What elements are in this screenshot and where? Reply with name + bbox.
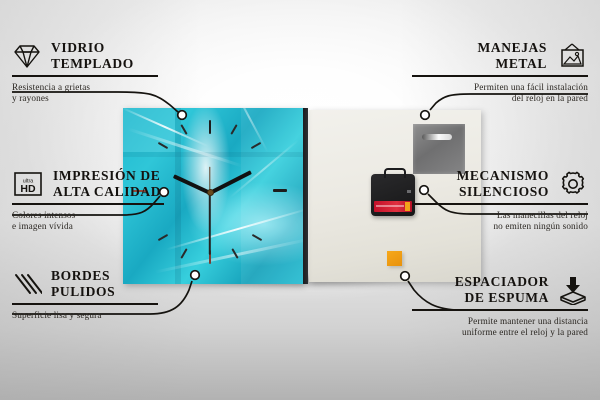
diamond-icon (12, 42, 42, 70)
feature-heading-row: MECANISMO SILENCIOSO (408, 168, 588, 199)
feature-espaciador-espuma: ESPACIADOR DE ESPUMA Permite mantener un… (408, 274, 588, 338)
feature-title: MECANISMO SILENCIOSO (457, 168, 549, 199)
feature-rule (412, 75, 588, 77)
svg-text:HD: HD (20, 183, 36, 195)
mechanism-hook (384, 168, 406, 178)
feature-rule (412, 203, 588, 205)
feature-heading-row: ultra HD IMPRESIÓN DE ALTA CALIDAD (12, 168, 170, 199)
picture-frame-hook-icon (556, 42, 588, 70)
battery (374, 201, 412, 212)
feature-title: ESPACIADOR DE ESPUMA (455, 274, 549, 305)
feature-rule (412, 309, 588, 311)
foam-spacer-pad (387, 251, 402, 266)
infographic-canvas: VIDRIO TEMPLADO Resistencia a grietas y … (0, 0, 600, 400)
feature-vidrio-templado: VIDRIO TEMPLADO Resistencia a grietas y … (12, 40, 162, 104)
feature-description: Las manecillas del reloj no emiten ningú… (408, 210, 588, 233)
gear-icon (558, 170, 588, 198)
feature-impresion-alta-calidad: ultra HD IMPRESIÓN DE ALTA CALIDAD Color… (12, 168, 170, 232)
feature-rule (12, 75, 158, 77)
feature-description: Colores intensos e imagen vívida (12, 210, 170, 233)
feature-title: MANEJAS METAL (478, 40, 547, 71)
feature-description: Permiten una fácil instalación del reloj… (408, 82, 588, 105)
feature-description: Resistencia a grietas y rayones (12, 82, 162, 105)
feature-title: VIDRIO TEMPLADO (51, 40, 134, 71)
feature-manejas-metal: MANEJAS METAL Permiten una fácil instala… (408, 40, 588, 104)
metal-hanger-plate (413, 124, 465, 174)
feature-rule (12, 203, 164, 205)
feature-heading-row: MANEJAS METAL (408, 40, 588, 71)
clock-second-hand (209, 193, 211, 255)
feature-title: IMPRESIÓN DE ALTA CALIDAD (53, 168, 161, 199)
feature-heading-row: ESPACIADOR DE ESPUMA (408, 274, 588, 305)
foam-spacer-arrow-icon (558, 275, 588, 305)
clock-center-pin (207, 189, 214, 196)
feature-title: BORDES PULIDOS (51, 268, 115, 299)
feature-description: Permite mantener una distancia uniforme … (408, 316, 588, 339)
polished-edges-icon (12, 270, 42, 298)
glass-edge (303, 108, 308, 284)
feature-bordes-pulidos: BORDES PULIDOS Superficie lisa y segura (12, 268, 162, 321)
feature-mecanismo-silencioso: MECANISMO SILENCIOSO Las manecillas del … (408, 168, 588, 232)
glass-panel-sheen-2 (241, 108, 303, 284)
clock-tick (209, 120, 211, 134)
feature-heading-row: BORDES PULIDOS (12, 268, 162, 299)
clock-tick (273, 189, 287, 192)
hanger-slot (422, 134, 452, 140)
battery-stripe (376, 205, 404, 207)
ultra-hd-icon: ultra HD (12, 170, 44, 198)
feature-rule (12, 303, 158, 305)
feature-description: Superficie lisa y segura (12, 310, 162, 321)
feature-heading-row: VIDRIO TEMPLADO (12, 40, 162, 71)
